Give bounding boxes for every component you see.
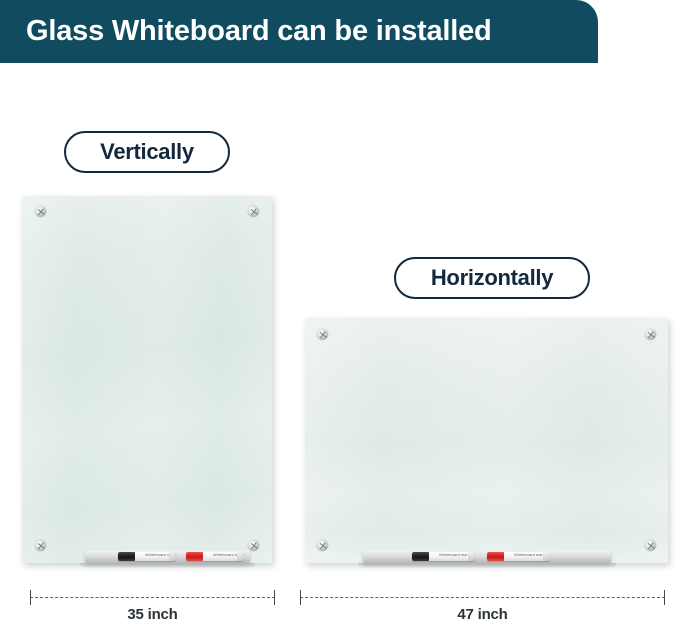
marker-cap-red-icon xyxy=(186,552,203,561)
orientation-label-vertical-text: Vertically xyxy=(100,139,194,165)
glass-sheen-horizontal xyxy=(305,318,668,563)
mounting-screw-icon xyxy=(317,329,328,340)
whiteboard-vertical: Whiteboard marker Whiteboard marker xyxy=(22,196,272,563)
dimension-line xyxy=(300,597,665,598)
marker-body: Whiteboard marker xyxy=(203,552,237,561)
orientation-label-vertical: Vertically xyxy=(64,131,230,173)
mounting-screw-icon xyxy=(35,540,46,551)
marker-black-vertical: Whiteboard marker xyxy=(118,552,176,561)
mounting-screw-icon xyxy=(317,540,328,551)
dimension-tick-left xyxy=(300,590,301,605)
marker-black-horizontal: Whiteboard marker xyxy=(412,552,475,561)
marker-body: Whiteboard marker xyxy=(429,552,468,561)
pen-tray-vertical: Whiteboard marker Whiteboard marker xyxy=(85,550,250,564)
product-infographic: Glass Whiteboard can be installed Vertic… xyxy=(0,0,679,625)
marker-brand-text: Whiteboard marker xyxy=(504,555,549,559)
dimension-tick-right xyxy=(664,590,665,605)
dimension-line xyxy=(30,597,275,598)
dimension-label-vertical: 35 inch xyxy=(30,606,275,623)
dimension-label-horizontal: 47 inch xyxy=(300,606,665,623)
dimension-tick-left xyxy=(30,590,31,605)
page-title: Glass Whiteboard can be installed xyxy=(0,15,492,48)
glass-sheen-vertical xyxy=(22,196,272,563)
marker-body: Whiteboard marker xyxy=(504,552,543,561)
pen-tray-horizontal: Whiteboard marker Whiteboard marker xyxy=(363,550,611,564)
glass-surface-vertical xyxy=(22,196,272,563)
marker-body: Whiteboard marker xyxy=(135,552,169,561)
marker-cap-black-icon xyxy=(412,552,429,561)
glass-surface-horizontal xyxy=(305,318,668,563)
header-banner: Glass Whiteboard can be installed xyxy=(0,0,598,63)
marker-red-vertical: Whiteboard marker xyxy=(186,552,244,561)
mounting-screw-icon xyxy=(645,540,656,551)
marker-cap-black-icon xyxy=(118,552,135,561)
mounting-screw-icon xyxy=(35,206,46,217)
orientation-label-horizontal: Horizontally xyxy=(394,257,590,299)
mounting-screw-icon xyxy=(248,540,259,551)
whiteboard-horizontal: Whiteboard marker Whiteboard marker xyxy=(305,318,668,563)
marker-brand-text: Whiteboard marker xyxy=(429,555,474,559)
marker-cap-red-icon xyxy=(487,552,504,561)
mounting-screw-icon xyxy=(248,206,259,217)
orientation-label-horizontal-text: Horizontally xyxy=(431,265,553,291)
dimension-tick-right xyxy=(274,590,275,605)
mounting-screw-icon xyxy=(645,329,656,340)
marker-red-horizontal: Whiteboard marker xyxy=(487,552,550,561)
